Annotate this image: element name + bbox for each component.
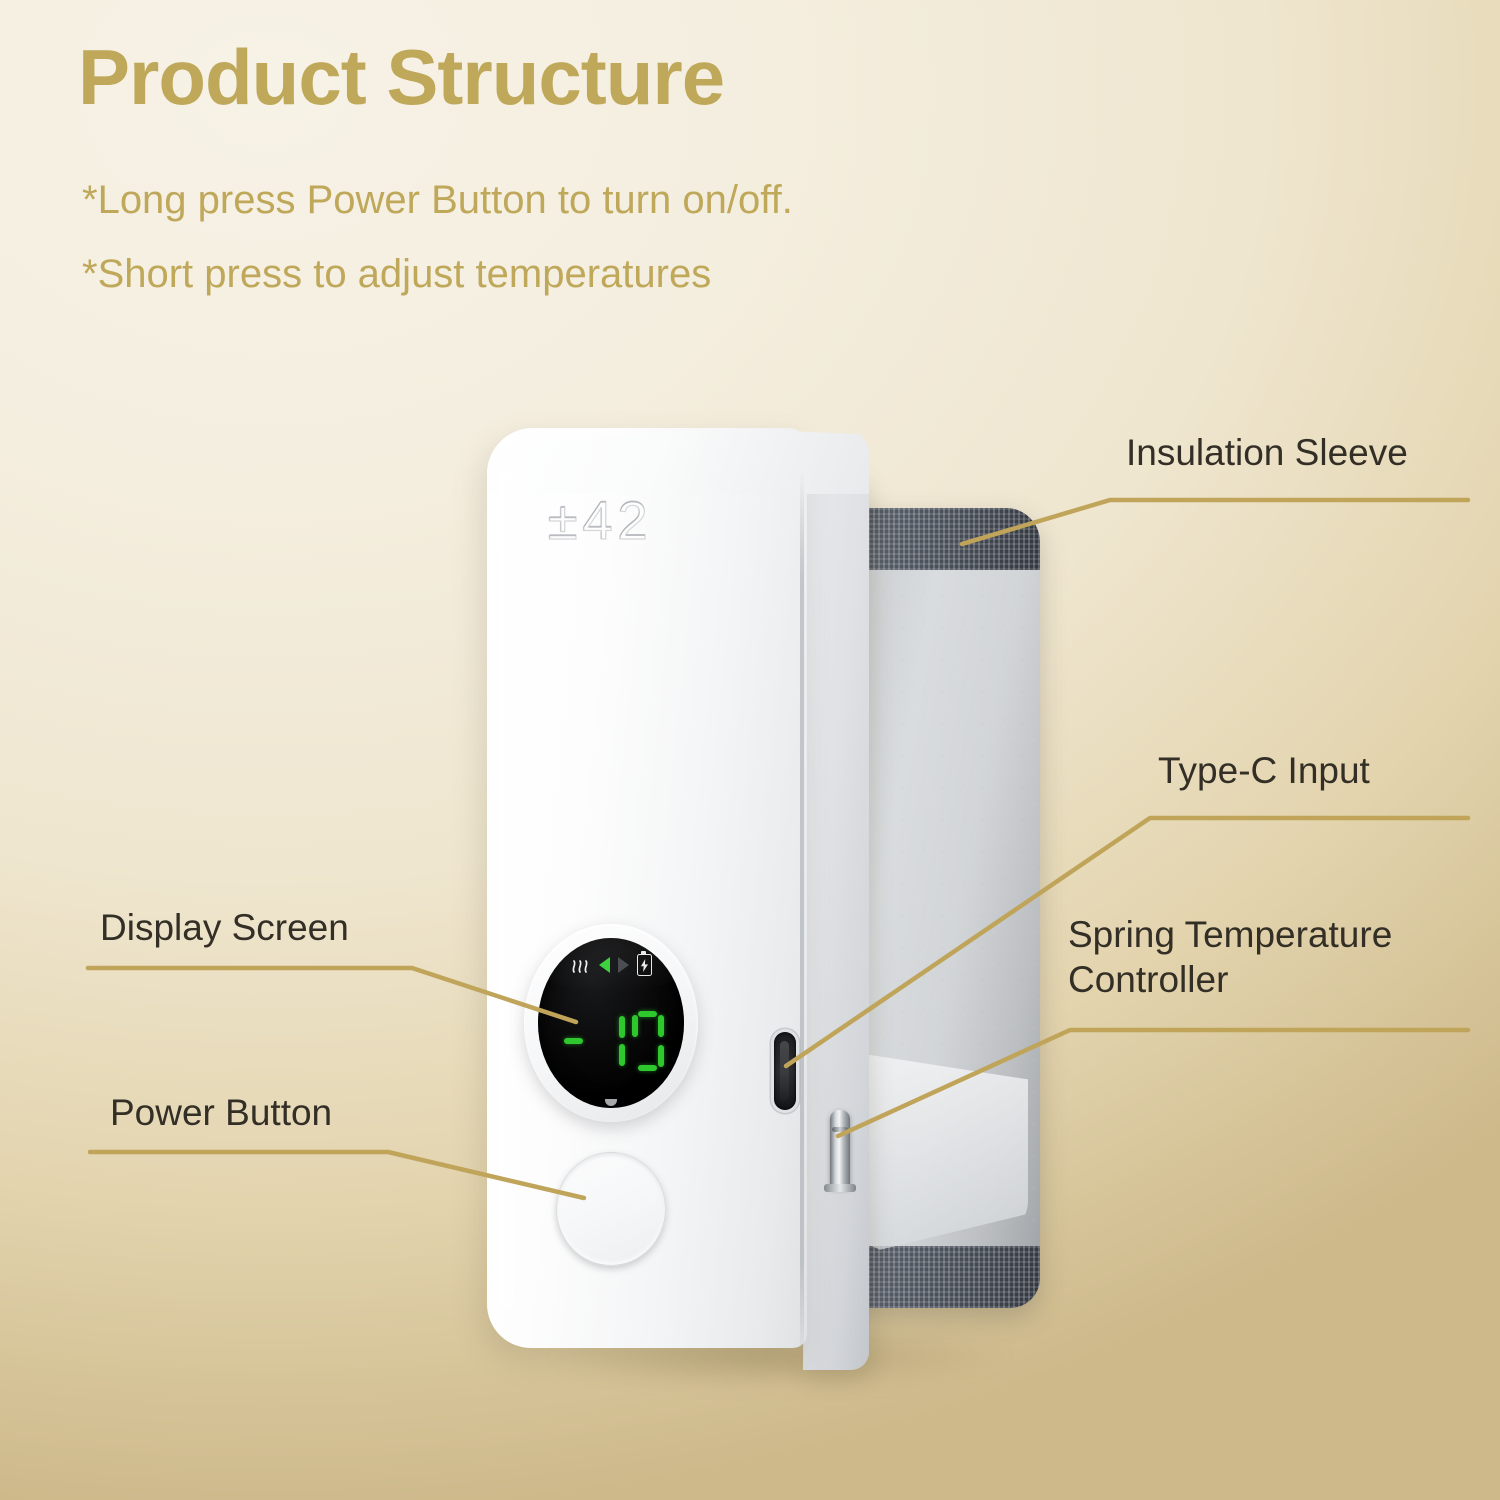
device-edge-seam — [800, 470, 804, 1368]
callout-label-spring-controller-line1: Spring Temperature — [1068, 912, 1488, 957]
callout-label-spring-controller: Spring Temperature Controller — [1068, 912, 1488, 1002]
callout-label-display-screen: Display Screen — [100, 905, 349, 950]
callout-label-power-button: Power Button — [110, 1090, 332, 1135]
callout-label-type-c-input: Type-C Input — [1158, 748, 1370, 793]
type-c-port[interactable] — [774, 1032, 796, 1110]
device-highlight — [497, 470, 523, 1310]
left-triangle-icon — [599, 957, 610, 973]
seven-segment-readout — [538, 982, 684, 1100]
callout-label-insulation-sleeve: Insulation Sleeve — [1126, 430, 1408, 475]
display-status-bar — [538, 954, 684, 976]
power-button[interactable] — [556, 1152, 666, 1266]
screen-notch — [605, 1099, 617, 1106]
embossed-temperature-mark: ±42 — [548, 490, 653, 552]
heat-waves-icon — [571, 957, 591, 974]
lightning-bolt-icon — [641, 959, 648, 972]
right-triangle-icon — [618, 957, 629, 973]
battery-charging-icon — [637, 954, 652, 976]
infographic-canvas: Product Structure *Long press Power Butt… — [0, 0, 1500, 1500]
spring-temperature-controller-probe — [830, 1110, 850, 1188]
callout-label-spring-controller-line2: Controller — [1068, 957, 1488, 1002]
seven-segment-digit — [632, 1011, 664, 1071]
device-side-panel — [803, 470, 869, 1370]
seven-segment-digit — [595, 1012, 625, 1070]
display-screen[interactable] — [538, 938, 684, 1108]
seven-segment-digit — [558, 1012, 588, 1070]
